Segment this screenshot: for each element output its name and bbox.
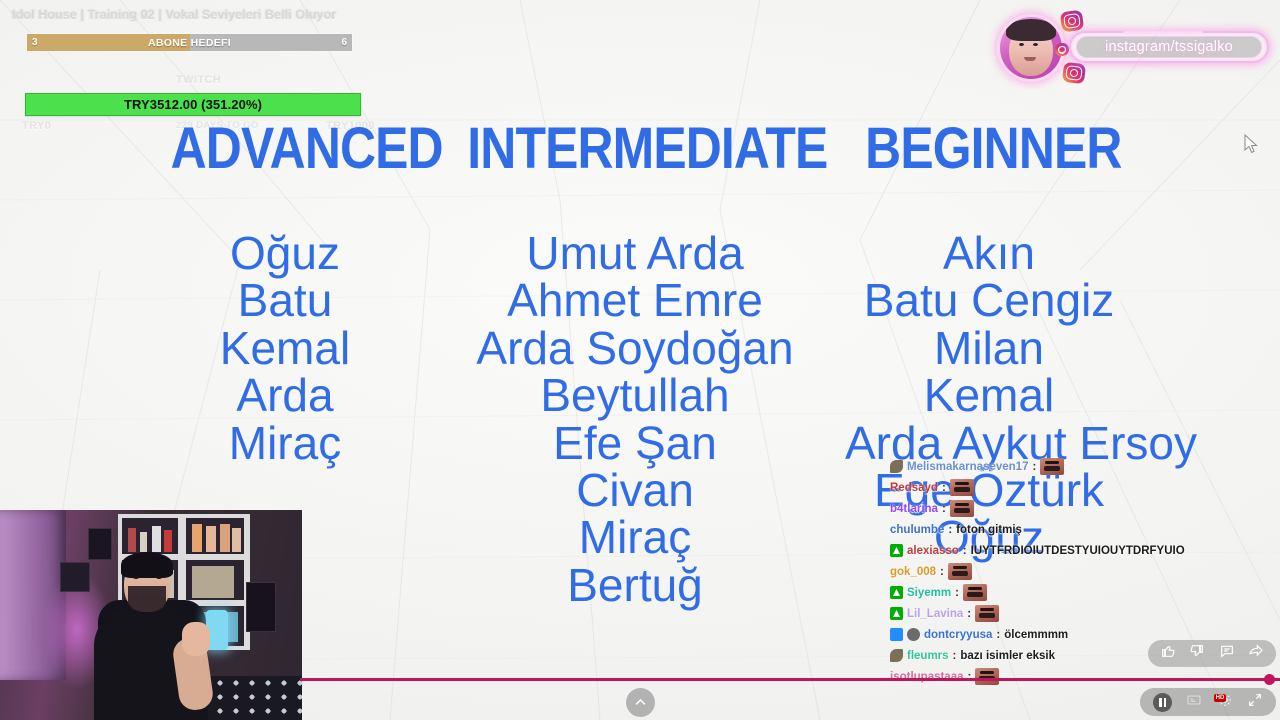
chat-message: Lil_Lavina: [890,605,1220,622]
list-item: Bertuğ [440,562,830,609]
mod-badge-icon [890,586,903,599]
chat-message: gok_008: [890,563,1220,580]
chat-message: Siyemm: [890,584,1220,601]
sub-badge-icon [890,628,903,641]
chat-message: b4tlarina: [890,500,1220,517]
list-item: Ahmet Emre [440,277,830,324]
instagram-overlay: instagram/tssigalko [995,5,1275,95]
chat-username[interactable]: dontcryyusa [924,629,992,641]
subscriber-goal-label: ABONE HEDEFI [27,37,352,49]
goal-widgets: Idol House | Training 02 | Vokal Seviyel… [0,8,400,22]
video-progress-knob[interactable] [1264,674,1275,685]
mod-badge-icon [890,544,903,557]
chat-message: Redsayd: [890,479,1220,496]
list-item: Akın [845,230,1133,277]
stream-title: Idol House | Training 02 | Vokal Seviyel… [0,8,400,22]
chat-message-text: IUYTFRDIOIUTDESTYUIOUYTDRFYUIO [971,545,1185,557]
chat-colon: : [963,545,967,557]
chat-message: isotlupastaaa: [890,668,1220,685]
list-item: Kemal [845,372,1133,419]
column-intermediate: INTERMEDIATE Umut Arda Ahmet Emre Arda S… [440,120,830,609]
chat-username[interactable]: Redsayd [890,482,938,494]
stream-screen: Idol House | Training 02 | Vokal Seviyel… [0,0,1280,720]
chat-emote-icon [948,563,972,580]
leaf-badge-icon [890,460,903,473]
name-list-advanced: Oğuz Batu Kemal Arda Miraç [152,230,418,467]
chat-colon: : [942,503,946,515]
chat-username[interactable]: alexiasso [907,545,959,557]
list-item: Miraç [440,514,830,561]
chat-username[interactable]: Siyemm [907,587,951,599]
list-item: Oğuz [152,230,418,277]
subscriber-goal-target: 6 [341,37,347,48]
chat-colon: : [940,566,944,578]
chat-colon: : [942,482,946,494]
chat-colon: : [955,587,959,599]
chat-colon: : [1032,461,1036,473]
avatar [1000,17,1062,79]
video-progress-bar[interactable] [300,678,1280,681]
pause-icon[interactable] [1153,693,1172,712]
chat-colon: : [967,608,971,620]
leaf-badge-icon [890,649,903,662]
list-item: Umut Arda [440,230,830,277]
chat-colon: : [996,629,1000,641]
chat-emote-icon [950,500,974,517]
chat-username[interactable]: b4tlarina [890,503,938,515]
list-item: Efe Şan [440,420,830,467]
chat-message-text: foton gitmiş [956,524,1022,536]
captions-icon[interactable] [1186,692,1202,713]
chat-username[interactable]: fleumrs [907,650,949,662]
instagram-handle: instagram/tssigalko [1105,39,1233,55]
column-heading-advanced: ADVANCED [171,120,400,178]
list-item: Kemal [152,325,418,372]
thumbs-down-icon[interactable] [1189,643,1205,664]
chat-message-text: bazı isimler eksik [960,650,1055,662]
chat-emote-icon [975,668,999,685]
money-goal-min-label: TRY0 [22,120,51,132]
list-item: Batu Cengiz [845,277,1133,324]
chat-username[interactable]: Melismakarnaseven17 [907,461,1028,473]
chat-message-text: ölcemmmm [1004,629,1068,641]
chat-username[interactable]: gok_008 [890,566,936,578]
thumbs-up-icon[interactable] [1160,643,1176,664]
list-item: Civan [440,467,830,514]
chat-username[interactable]: Lil_Lavina [907,608,963,620]
platform-ghost-label: TWITCH [176,74,221,86]
reaction-bar [1148,640,1276,667]
chat-message: chulumbe:foton gitmiş [890,521,1220,538]
instagram-icon [1060,10,1085,33]
list-item: Miraç [152,420,418,467]
gray-badge-icon [907,628,920,641]
name-list-intermediate: Umut Arda Ahmet Emre Arda Soydoğan Beytu… [440,230,830,609]
chat-message: Melismakarnaseven17: [890,458,1220,475]
mouse-cursor [1244,134,1258,154]
column-advanced: ADVANCED Oğuz Batu Kemal Arda Miraç [152,120,418,467]
chat-colon: : [948,524,952,536]
chat-emote-icon [963,584,987,601]
chat-colon: : [953,650,957,662]
list-item: Arda [152,372,418,419]
chat-emote-icon [950,479,974,496]
chat-message: alexiasso:IUYTFRDIOIUTDESTYUIOUYTDRFYUIO [890,542,1220,559]
chat-username[interactable]: chulumbe [890,524,944,536]
chat-emote-icon [975,605,999,622]
share-icon[interactable] [1248,643,1264,664]
list-item: Batu [152,277,418,324]
webcam-overlay [0,510,302,720]
instagram-icon [1062,62,1086,85]
money-goal-amount: TRY3512.00 (351.20%) [124,97,262,112]
player-control-bar: HD [1140,688,1276,716]
minimize-icon[interactable] [1247,692,1263,713]
column-heading-beginner: BEGINNER [865,120,1113,178]
settings-button[interactable]: HD [1217,692,1233,713]
subscriber-goal-bar: 3 ABONE HEDEFI 6 [27,34,352,51]
chat-emote-icon [1040,458,1064,475]
quality-badge: HD [1214,694,1227,702]
chevron-up-icon[interactable] [626,688,655,717]
mod-badge-icon [890,607,903,620]
money-goal-bar: TRY3512.00 (351.20%) [25,93,361,116]
list-item: Milan [845,325,1133,372]
list-item: Arda Soydoğan [440,325,830,372]
comment-icon[interactable] [1219,643,1235,664]
list-item: Beytullah [440,372,830,419]
instagram-handle-pill: instagram/tssigalko [1069,31,1269,63]
column-heading-intermediate: INTERMEDIATE [467,120,802,178]
